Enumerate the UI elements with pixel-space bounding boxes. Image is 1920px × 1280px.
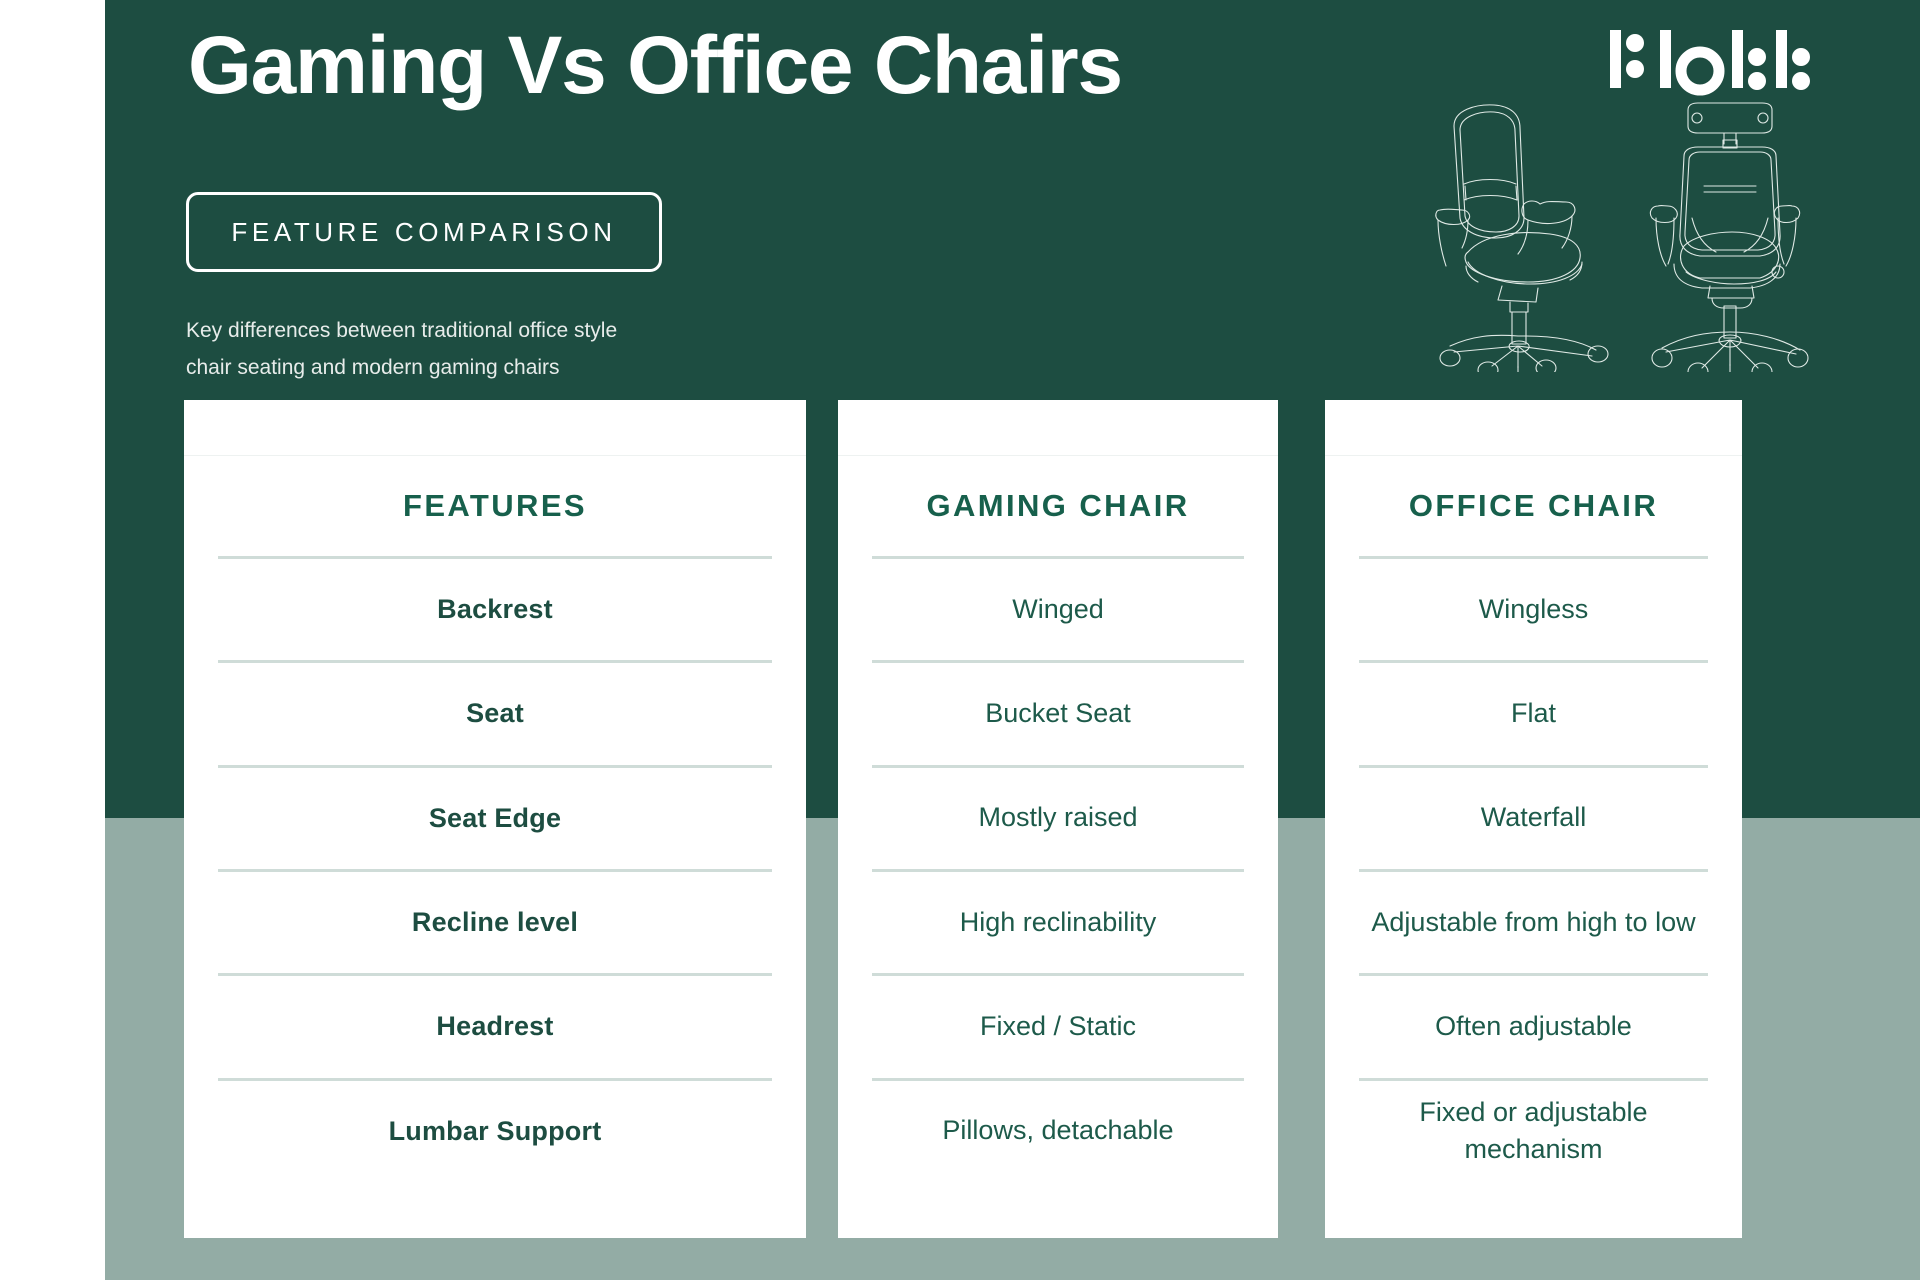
features-rows: Backrest Seat Seat Edge Recline level He… [218, 556, 772, 1238]
office-value: Often adjustable [1435, 1008, 1632, 1046]
office-value: Flat [1511, 695, 1556, 733]
table-row: Fixed / Static [872, 973, 1244, 1077]
table-row: Seat [218, 660, 772, 764]
office-card-body: OFFICE CHAIR Wingless Flat Waterfall Adj… [1325, 456, 1742, 1238]
table-row: Waterfall [1359, 765, 1708, 869]
subtitle: Key differences between traditional offi… [186, 312, 686, 387]
badge-label: FEATURE COMPARISON [231, 217, 616, 248]
flokk-logo-icon [1608, 26, 1820, 96]
feature-label: Recline level [412, 907, 578, 938]
card-top-strip [838, 400, 1278, 456]
table-row: Adjustable from high to low [1359, 869, 1708, 973]
table-row: Fixed or adjustable mechanism [1359, 1078, 1708, 1182]
table-row: Lumbar Support [218, 1078, 772, 1182]
column-header-office-chair: OFFICE CHAIR [1359, 456, 1708, 556]
table-row: Mostly raised [872, 765, 1244, 869]
office-value: Fixed or adjustable mechanism [1363, 1094, 1704, 1170]
infographic-poster: Gaming Vs Office Chairs FEATURE COMPARIS… [0, 0, 1920, 1280]
subtitle-line-1: Key differences between traditional offi… [186, 312, 686, 349]
office-chair-column-card: OFFICE CHAIR Wingless Flat Waterfall Adj… [1325, 400, 1742, 1238]
office-value: Adjustable from high to low [1371, 904, 1695, 942]
office-chair-illustration-icon [1640, 100, 1820, 372]
gaming-value: Bucket Seat [985, 695, 1131, 733]
office-value: Waterfall [1481, 799, 1587, 837]
office-value: Wingless [1479, 591, 1589, 629]
features-card-body: FEATURES Backrest Seat Seat Edge Recline… [184, 456, 806, 1238]
card-top-strip [184, 400, 806, 456]
gaming-chair-illustration-icon [1432, 100, 1622, 372]
card-bottom-spacer [872, 1182, 1244, 1238]
table-row: Flat [1359, 660, 1708, 764]
table-row: Headrest [218, 973, 772, 1077]
table-row: Recline level [218, 869, 772, 973]
column-header-features: FEATURES [218, 456, 772, 556]
table-row: Backrest [218, 556, 772, 660]
gaming-rows: Winged Bucket Seat Mostly raised High re… [872, 556, 1244, 1238]
subtitle-line-2: chair seating and modern gaming chairs [186, 349, 686, 386]
table-row: Pillows, detachable [872, 1078, 1244, 1182]
table-row: Often adjustable [1359, 973, 1708, 1077]
features-column-card: FEATURES Backrest Seat Seat Edge Recline… [184, 400, 806, 1238]
feature-label: Seat [466, 698, 524, 729]
card-bottom-spacer [1359, 1182, 1708, 1238]
card-bottom-spacer [218, 1182, 772, 1238]
feature-label: Seat Edge [429, 803, 561, 834]
feature-label: Lumbar Support [389, 1116, 602, 1147]
gaming-value: High reclinability [960, 904, 1157, 942]
card-top-strip [1325, 400, 1742, 456]
gaming-card-body: GAMING CHAIR Winged Bucket Seat Mostly r… [838, 456, 1278, 1238]
column-header-gaming-chair: GAMING CHAIR [872, 456, 1244, 556]
table-row: Seat Edge [218, 765, 772, 869]
table-row: Wingless [1359, 556, 1708, 660]
gaming-value: Fixed / Static [980, 1008, 1136, 1046]
table-row: Bucket Seat [872, 660, 1244, 764]
gaming-value: Winged [1012, 591, 1104, 629]
feature-label: Headrest [436, 1011, 553, 1042]
gaming-value: Pillows, detachable [942, 1112, 1173, 1150]
table-row: High reclinability [872, 869, 1244, 973]
gaming-chair-column-card: GAMING CHAIR Winged Bucket Seat Mostly r… [838, 400, 1278, 1238]
page-title: Gaming Vs Office Chairs [188, 22, 1388, 111]
table-row: Winged [872, 556, 1244, 660]
gaming-value: Mostly raised [978, 799, 1137, 837]
office-rows: Wingless Flat Waterfall Adjustable from … [1359, 556, 1708, 1238]
feature-label: Backrest [437, 594, 553, 625]
feature-comparison-badge: FEATURE COMPARISON [186, 192, 662, 272]
